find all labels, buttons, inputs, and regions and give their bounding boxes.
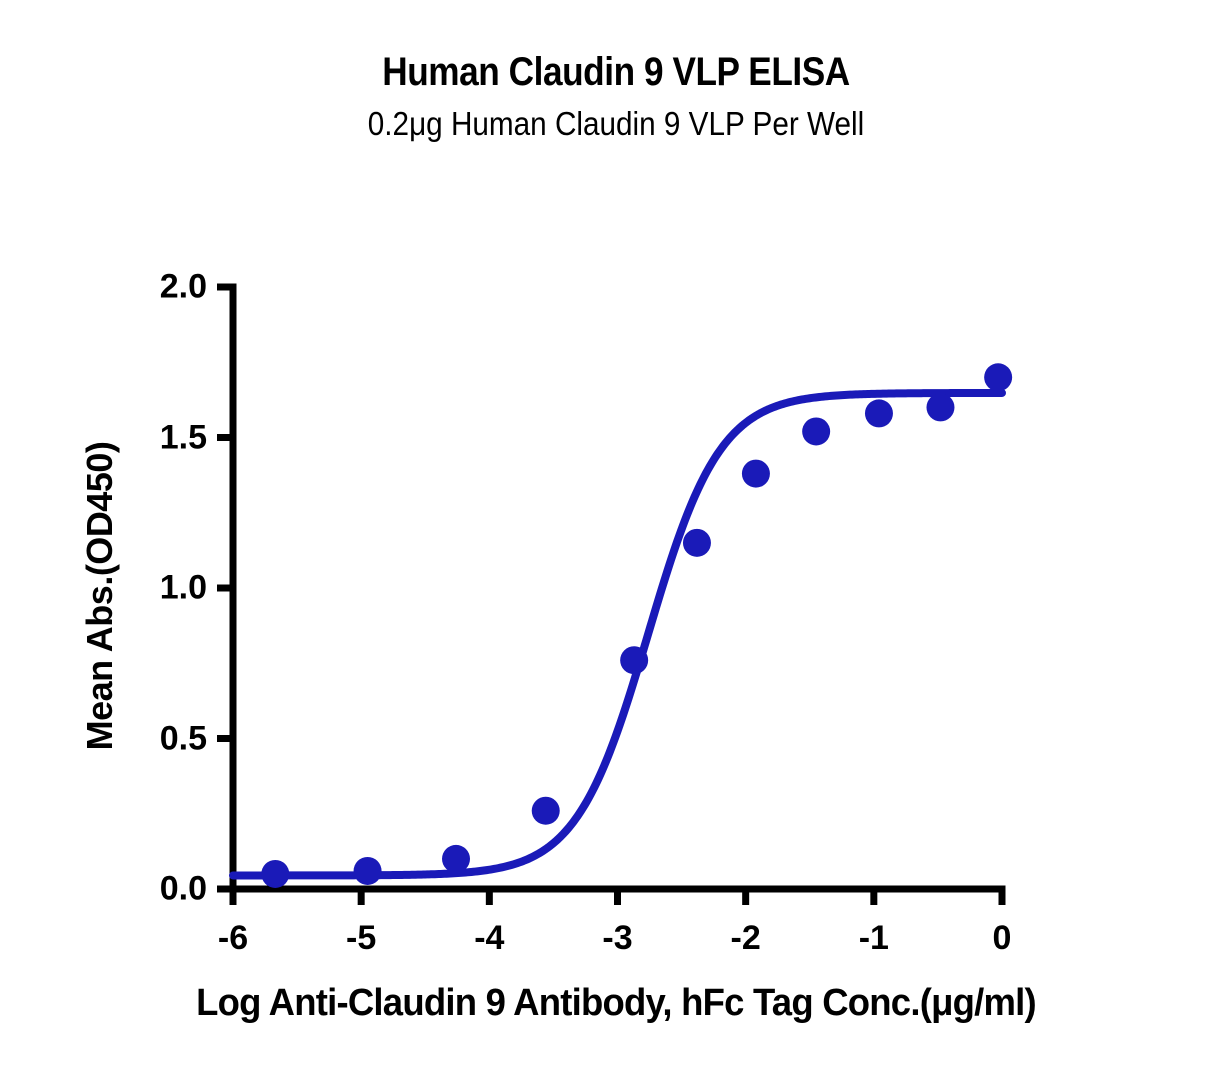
data-point-marker <box>532 797 560 825</box>
y-tick-label: 2.0 <box>77 268 207 307</box>
y-tick-label: 1.5 <box>77 418 207 457</box>
x-tick-label: -4 <box>474 919 504 958</box>
data-point-marker <box>354 857 382 885</box>
data-point-marker <box>742 460 770 488</box>
x-tick-label: -6 <box>218 919 248 958</box>
x-axis-title: Log Anti-Claudin 9 Antibody, hFc Tag Con… <box>25 982 1208 1025</box>
x-tick-label: -2 <box>731 919 761 958</box>
y-tick-label: 0.0 <box>77 870 207 909</box>
data-point-marker <box>261 860 289 888</box>
data-point-marker <box>802 417 830 445</box>
fit-curve <box>233 393 1002 875</box>
data-point-marker <box>442 845 470 873</box>
y-tick-label: 1.0 <box>77 569 207 608</box>
plot-area: Mean Abs.(OD450) Log Anti-Claudin 9 Anti… <box>0 0 1232 1087</box>
x-tick-label: -3 <box>602 919 632 958</box>
y-tick-label: 0.5 <box>77 719 207 758</box>
x-tick-label: -5 <box>346 919 376 958</box>
data-point-marker <box>865 399 893 427</box>
x-tick-label: -1 <box>859 919 889 958</box>
x-tick-label: 0 <box>993 919 1012 958</box>
chart-figure: Human Claudin 9 VLP ELISA 0.2μg Human Cl… <box>0 0 1232 1087</box>
data-point-marker <box>620 646 648 674</box>
data-point-marker <box>984 363 1012 391</box>
data-point-marker <box>926 393 954 421</box>
data-point-marker <box>683 529 711 557</box>
